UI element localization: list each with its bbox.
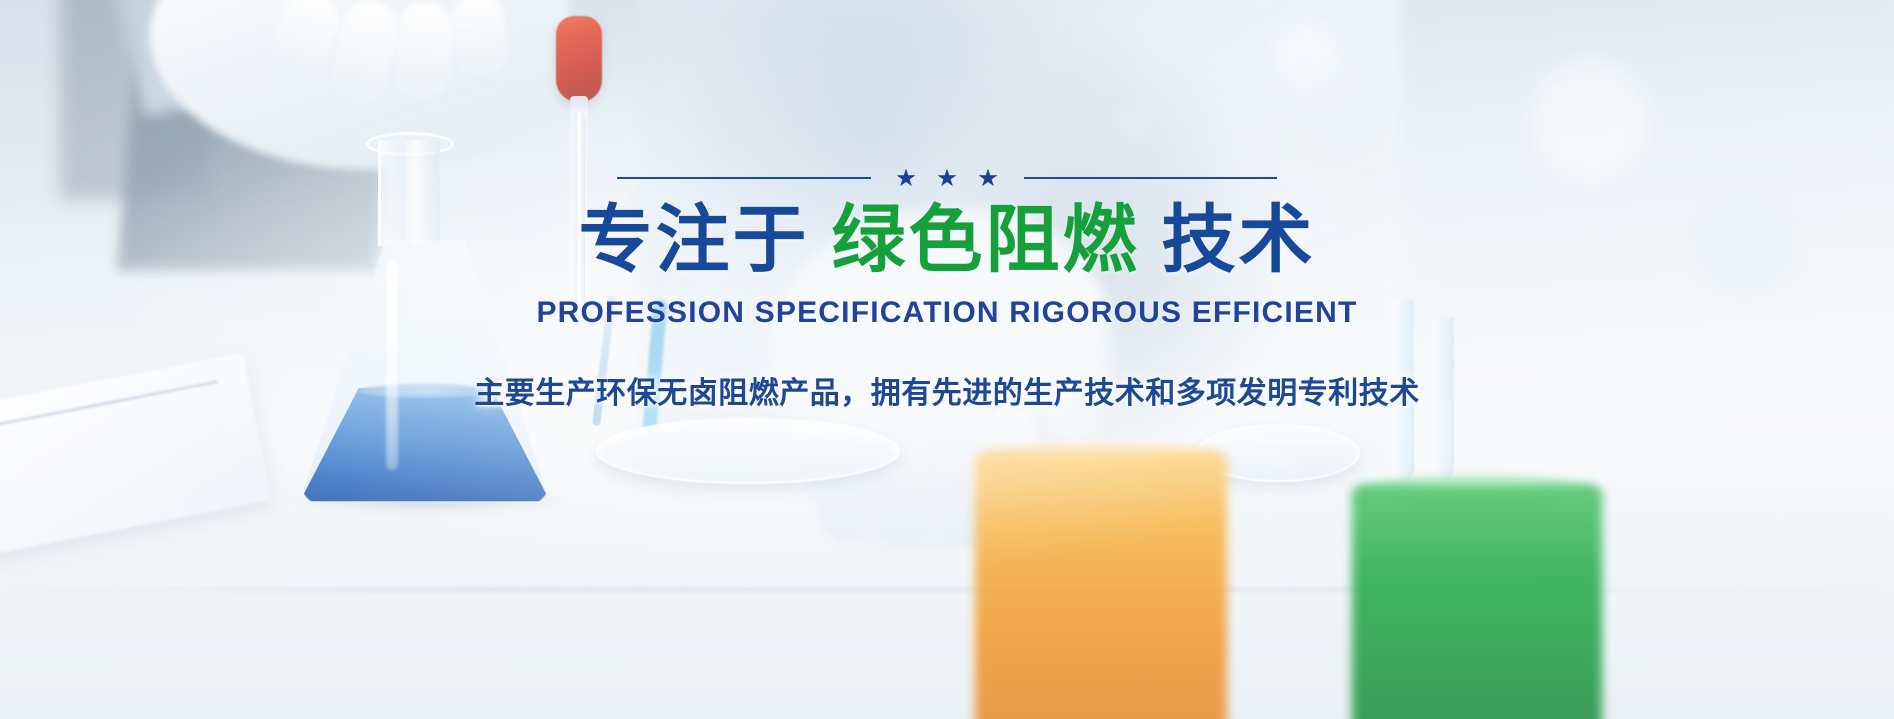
description-text: 主要生产环保无卤阻燃产品，拥有先进的生产技术和多项发明专利技术 — [474, 368, 1420, 412]
divider-line-right — [1024, 177, 1278, 179]
headline-part-1: 专注于 — [579, 200, 810, 280]
star-icon — [938, 169, 957, 188]
star-icon — [979, 169, 998, 188]
star-icon — [897, 169, 916, 188]
headline: 专注于 绿色阻燃 技术 — [579, 200, 1316, 280]
banner-content: 专注于 绿色阻燃 技术 PROFESSION SPECIFICATION RIG… — [0, 168, 1894, 412]
english-subtitle: PROFESSION SPECIFICATION RIGOROUS EFFICI… — [536, 296, 1357, 330]
headline-part-3: 技术 — [1162, 200, 1316, 280]
headline-part-2: 绿色阻燃 — [832, 200, 1140, 280]
hero-banner: 专注于 绿色阻燃 技术 PROFESSION SPECIFICATION RIG… — [0, 0, 1894, 719]
decorative-divider — [617, 168, 1277, 188]
star-group — [897, 169, 998, 188]
divider-line-left — [617, 177, 871, 179]
